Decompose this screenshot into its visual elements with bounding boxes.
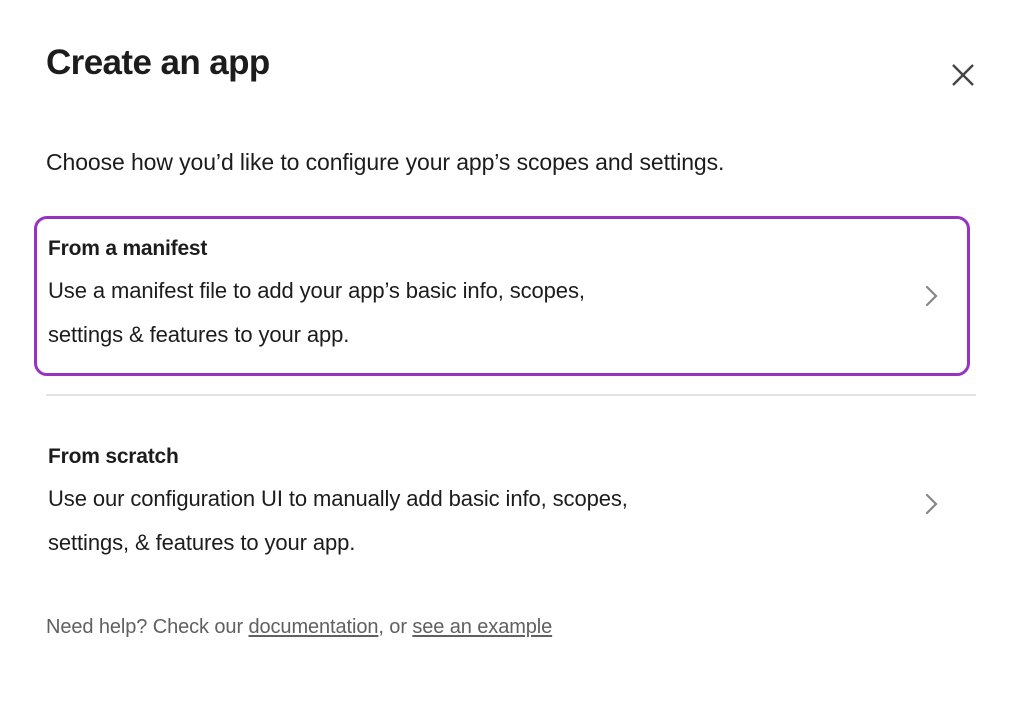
documentation-link[interactable]: documentation [248, 616, 378, 638]
dialog-subtitle: Choose how you’d like to configure your … [46, 146, 724, 178]
option-from-a-manifest[interactable]: From a manifest Use a manifest file to a… [34, 216, 970, 376]
option-title: From scratch [48, 443, 905, 471]
close-button[interactable] [944, 56, 982, 94]
option-description-line-2: settings, & features to your app. [48, 521, 848, 565]
option-body: From scratch Use our configuration UI to… [48, 443, 905, 565]
option-body: From a manifest Use a manifest file to a… [48, 235, 905, 357]
chevron-right-icon[interactable] [919, 274, 945, 318]
page-title: Create an app [46, 42, 978, 84]
help-text: Need help? Check our documentation, or s… [46, 612, 552, 642]
option-from-scratch[interactable]: From scratch Use our configuration UI to… [34, 432, 970, 576]
chevron-right-icon[interactable] [919, 482, 945, 526]
close-icon [949, 61, 977, 89]
see-an-example-link[interactable]: see an example [412, 616, 552, 638]
create-app-dialog: Create an app Choose how you’d like to c… [0, 0, 1024, 702]
help-text-middle: , or [378, 616, 412, 638]
option-description: Use a manifest file to add your app’s ba… [48, 269, 848, 357]
option-description-line-2: settings & features to your app. [48, 313, 848, 357]
section-divider [46, 394, 976, 396]
dialog-header: Create an app [46, 42, 978, 100]
option-title: From a manifest [48, 235, 905, 263]
option-description-line-1: Use our configuration UI to manually add… [48, 477, 848, 521]
option-description: Use our configuration UI to manually add… [48, 477, 848, 565]
help-text-prefix: Need help? Check our [46, 616, 248, 638]
option-description-line-1: Use a manifest file to add your app’s ba… [48, 269, 848, 313]
